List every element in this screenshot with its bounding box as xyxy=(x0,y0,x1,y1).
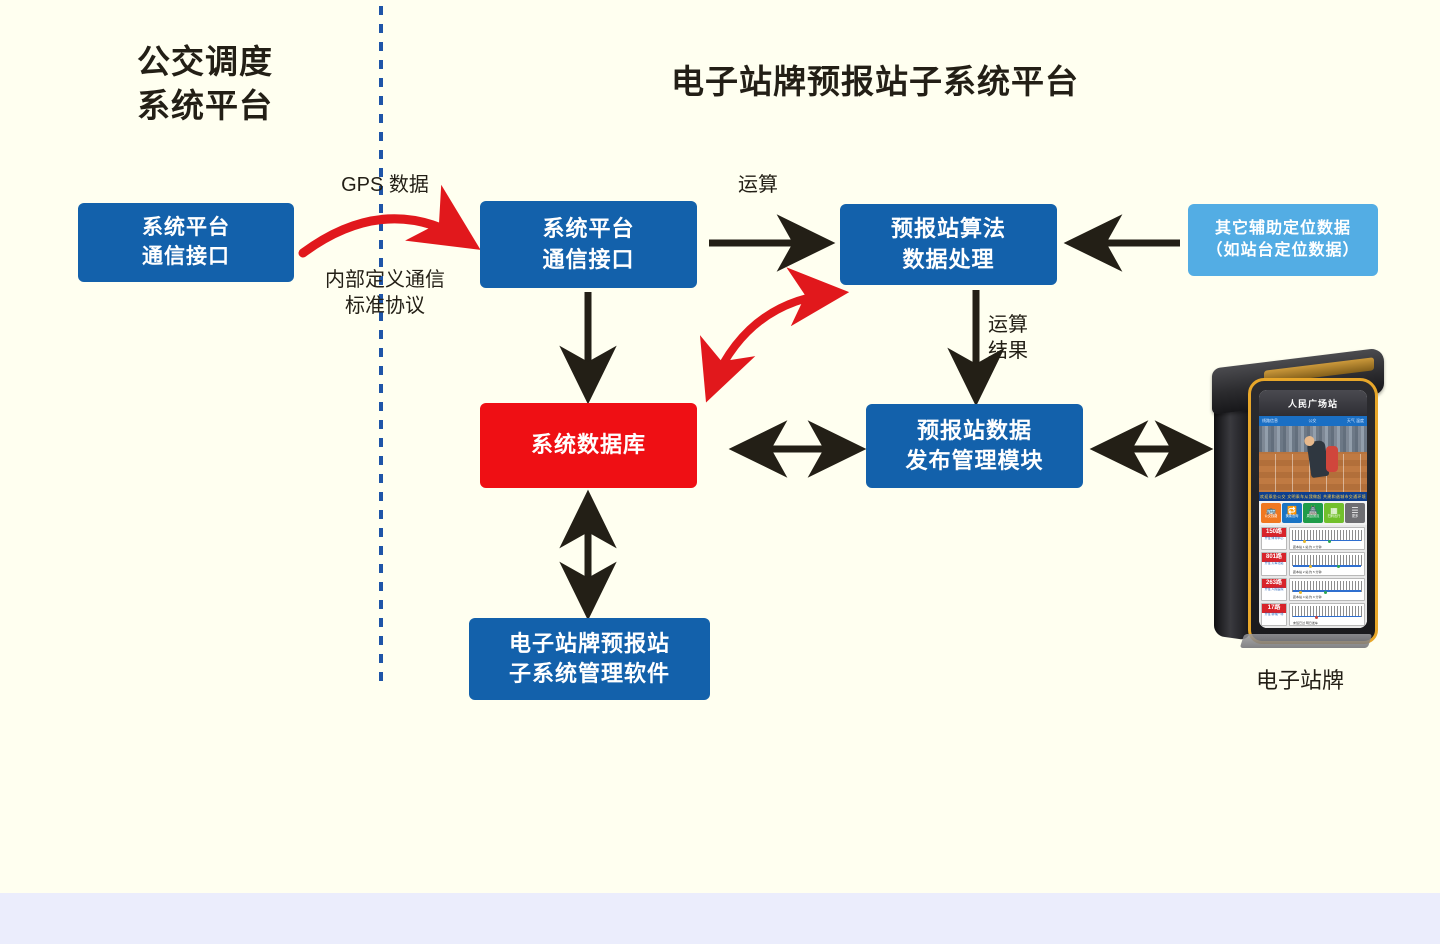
route-info: 距本站 4 站 约 9 分钟 xyxy=(1293,595,1322,599)
route-progress-strip: 距本站 1 站 约 3 分钟 xyxy=(1289,527,1365,550)
sign-tile-attractions[interactable]: 🏯 周边景点 xyxy=(1303,503,1323,523)
title-right: 电子站牌预报站子系统平台 xyxy=(585,60,1165,104)
arrow-database-algorithm xyxy=(710,293,838,392)
sign-icon-row: 🚌 公交线路 🔁 换乘查询 🏯 周边景点 ▦ 扫码出行 xyxy=(1259,501,1367,525)
sign-tile-label: 扫码出行 xyxy=(1328,515,1341,519)
route-progress-strip: 距本站 2 站 约 5 分钟 xyxy=(1289,552,1365,575)
node-algorithm[interactable]: 预报站算法 数据处理 xyxy=(840,204,1057,285)
caption-electronic-sign: 电子站牌 xyxy=(1200,663,1400,695)
sign-tile-label: 公交线路 xyxy=(1265,515,1278,519)
node-publish-module[interactable]: 预报站数据 发布管理模块 xyxy=(866,404,1083,488)
sign-route-row: 150路 开往 体育中心 距本站 1 站 约 3 分钟 xyxy=(1261,527,1365,550)
route-badge: 801路 开往 火车北站 xyxy=(1261,552,1287,575)
route-line xyxy=(1293,565,1361,567)
edge-label-gps-data: GPS 数据 xyxy=(300,172,470,198)
sign-tile-label: 换乘查询 xyxy=(1286,515,1299,519)
node-management-software[interactable]: 电子站牌预报站 子系统管理软件 xyxy=(469,618,710,700)
node-database[interactable]: 系统数据库 xyxy=(480,403,697,488)
route-info: 距本站 1 站 约 3 分钟 xyxy=(1293,545,1322,549)
electronic-station-sign[interactable]: 人民广场站 线路信息 公交 天气 温度 欢迎乘坐公交 文明乘车从我做起 共建和谐… xyxy=(1212,358,1384,654)
node-aux-data[interactable]: 其它辅助定位数据 （如站台定位数据） xyxy=(1188,204,1378,276)
route-badge: 150路 开往 体育中心 xyxy=(1261,527,1287,550)
sign-top-bar: 线路信息 公交 天气 温度 xyxy=(1259,416,1367,426)
route-info: 末班已过 明日发车 xyxy=(1293,621,1318,625)
route-stop-dot xyxy=(1315,616,1318,619)
sign-photo xyxy=(1259,426,1367,492)
route-destination: 开往 火车北站 xyxy=(1265,562,1284,566)
route-line xyxy=(1293,616,1361,618)
route-stop-dot xyxy=(1324,591,1327,594)
route-progress-strip: 末班已过 明日发车 xyxy=(1289,603,1365,626)
sign-tile-transfer[interactable]: 🔁 换乘查询 xyxy=(1282,503,1302,523)
title-left: 公交调度 系统平台 xyxy=(80,40,330,127)
sign-route-row: 263路 开往 人民医院 距本站 4 站 约 9 分钟 xyxy=(1261,578,1365,601)
sign-screen: 人民广场站 线路信息 公交 天气 温度 欢迎乘坐公交 文明乘车从我做起 共建和谐… xyxy=(1259,390,1367,628)
sign-station-name: 人民广场站 xyxy=(1259,390,1367,416)
sign-body: 人民广场站 线路信息 公交 天气 温度 欢迎乘坐公交 文明乘车从我做起 共建和谐… xyxy=(1248,378,1378,644)
route-progress-strip: 距本站 4 站 约 9 分钟 xyxy=(1289,578,1365,601)
sign-photo-athlete-2 xyxy=(1326,446,1338,472)
route-stop-dot xyxy=(1299,591,1302,594)
sign-tile-label: 周边景点 xyxy=(1307,515,1320,519)
sign-tile-more[interactable]: ☰ 更多 xyxy=(1345,503,1365,523)
edge-label-internal-protocol: 内部定义通信 标准协议 xyxy=(295,267,475,319)
sign-tile-bus[interactable]: 🚌 公交线路 xyxy=(1261,503,1281,523)
node-platform-interface[interactable]: 系统平台 通信接口 xyxy=(480,201,697,288)
route-badge: 263路 开往 人民医院 xyxy=(1261,578,1287,601)
route-stop-dot xyxy=(1309,565,1312,568)
sign-top-bar-left: 线路信息 xyxy=(1262,418,1278,424)
edge-label-compute-result: 运算 结果 xyxy=(988,312,1058,364)
route-info: 距本站 2 站 约 5 分钟 xyxy=(1293,570,1322,574)
route-badge: 17路 开往 新城广场 xyxy=(1261,603,1287,626)
route-stop-dot xyxy=(1303,540,1306,543)
sign-base xyxy=(1240,634,1373,648)
edge-label-compute: 运算 xyxy=(718,172,798,198)
route-stop-dot xyxy=(1337,565,1340,568)
sign-leg xyxy=(1214,383,1250,640)
sign-route-row: 17路 开往 新城广场 末班已过 明日发车 xyxy=(1261,603,1365,626)
sign-top-bar-right: 天气 温度 xyxy=(1347,418,1364,424)
node-dispatch-interface[interactable]: 系统平台 通信接口 xyxy=(78,203,294,282)
diagram-canvas: 公交调度 系统平台 电子站牌预报站子系统平台 系统平台 通信接口 系统平台 通信… xyxy=(0,0,1440,944)
sign-route-list: 150路 开往 体育中心 距本站 1 站 约 3 分钟 xyxy=(1259,525,1367,628)
footer-band xyxy=(0,893,1440,944)
route-destination: 开往 人民医院 xyxy=(1265,588,1284,592)
sign-tile-qrcode[interactable]: ▦ 扫码出行 xyxy=(1324,503,1344,523)
route-destination: 开往 新城广场 xyxy=(1265,613,1284,617)
sign-route-row: 801路 开往 火车北站 距本站 2 站 约 5 分钟 xyxy=(1261,552,1365,575)
sign-tile-label: 更多 xyxy=(1352,515,1358,519)
arrow-gps-data xyxy=(303,219,470,253)
sign-ticker: 欢迎乘坐公交 文明乘车从我做起 共建和谐城市交通环境 xyxy=(1259,492,1367,501)
sign-top-bar-center: 公交 xyxy=(1308,418,1316,424)
route-destination: 开往 体育中心 xyxy=(1265,537,1284,541)
